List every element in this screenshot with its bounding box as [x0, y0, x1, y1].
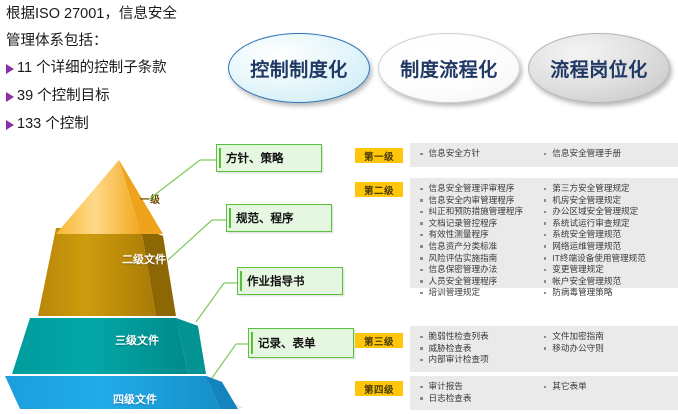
level-4-column-a: 审计报告 日志检查表	[420, 381, 544, 405]
square-bullet-icon	[420, 234, 423, 237]
square-bullet-icon	[544, 222, 547, 225]
square-bullet-icon	[544, 234, 547, 237]
level-1-column-b: 信息安全管理手册	[544, 148, 672, 162]
list-item-label: 信息资产分类标准	[429, 241, 498, 253]
list-item: 培训管理规定	[420, 287, 544, 299]
square-bullet-icon	[544, 211, 547, 214]
list-item-label: 信息安全管理评审程序	[429, 183, 515, 195]
square-bullet-icon	[420, 153, 423, 156]
list-item-label: 脆弱性检查列表	[429, 331, 489, 343]
list-item-label: 纠正和预防措施管理程序	[429, 206, 524, 218]
square-bullet-icon	[544, 188, 547, 191]
list-item-label: 信息安全方针	[429, 148, 481, 160]
level-2-column-b: 第三方安全管理规定 机房安全管理规定 办公区域安全管理规定 系统试运行审查规定 …	[544, 183, 672, 283]
level-1-column-a: 信息安全方针	[420, 148, 544, 162]
square-bullet-icon	[420, 386, 423, 389]
square-bullet-icon	[420, 188, 423, 191]
square-bullet-icon	[420, 269, 423, 272]
list-item: 变更管理规定	[544, 264, 672, 276]
level-2-column-a: 信息安全管理评审程序 信息安全内审管理程序 纠正和预防措施管理程序 文档记录管控…	[420, 183, 544, 283]
list-item-label: 有效性测量程序	[429, 229, 489, 241]
square-bullet-icon	[544, 386, 547, 389]
list-item-label: 人员安全管理程序	[429, 276, 498, 288]
list-item: 信息安全内审管理程序	[420, 195, 544, 207]
level-badge-1: 第一级	[355, 148, 403, 163]
square-bullet-icon	[544, 292, 547, 295]
level-panel-2: 信息安全管理评审程序 信息安全内审管理程序 纠正和预防措施管理程序 文档记录管控…	[410, 178, 678, 288]
list-item: 日志检查表	[420, 393, 544, 405]
level-panel-4: 审计报告 日志检查表 其它表单	[410, 376, 678, 410]
square-bullet-icon	[420, 292, 423, 295]
level-badge-3: 第三级	[355, 333, 403, 348]
square-bullet-icon	[420, 336, 423, 339]
list-item: 其它表单	[544, 381, 672, 393]
square-bullet-icon	[420, 347, 423, 350]
list-item-label: 变更管理规定	[552, 264, 604, 276]
list-item: 办公区域安全管理规定	[544, 206, 672, 218]
list-item-label: 移动办公守则	[552, 343, 604, 355]
square-bullet-icon	[544, 269, 547, 272]
list-item-label: 帐户安全管理规范	[552, 276, 621, 288]
list-item-label: 系统安全管理规范	[552, 229, 621, 241]
list-item-label: 第三方安全管理规定	[552, 183, 629, 195]
list-item-label: 其它表单	[552, 381, 586, 393]
list-item-label: 文件加密指南	[552, 331, 604, 343]
list-item: 风险评估实施指南	[420, 253, 544, 265]
list-item-label: 网络运维管理规范	[552, 241, 621, 253]
callout-standard-procedure: 规范、程序	[226, 204, 332, 232]
square-bullet-icon	[420, 245, 423, 248]
list-item: 内部审计检查项	[420, 354, 544, 366]
list-item-label: 风险评估实施指南	[429, 253, 498, 265]
square-bullet-icon	[544, 153, 547, 156]
list-item-label: 系统试运行审查规定	[552, 218, 629, 230]
list-item: 机房安全管理规定	[544, 195, 672, 207]
square-bullet-icon	[544, 336, 547, 339]
list-item: 防病毒管理策略	[544, 287, 672, 299]
list-item: 网络运维管理规范	[544, 241, 672, 253]
square-bullet-icon	[544, 199, 547, 202]
list-item-label: 文档记录管控程序	[429, 218, 498, 230]
level-badge-2: 第二级	[355, 182, 403, 197]
list-item-label: 内部审计检查项	[429, 354, 489, 366]
list-item: 审计报告	[420, 381, 544, 393]
square-bullet-icon	[420, 222, 423, 225]
list-item: 脆弱性检查列表	[420, 331, 544, 343]
list-item-label: 威胁检查表	[429, 343, 472, 355]
list-item-label: IT终端设备使用管理规范	[552, 253, 646, 265]
level-4-column-b: 其它表单	[544, 381, 672, 405]
list-item: 信息保密管理办法	[420, 264, 544, 276]
list-item: 信息安全方针	[420, 148, 544, 160]
list-item-label: 机房安全管理规定	[552, 195, 621, 207]
list-item: 人员安全管理程序	[420, 276, 544, 288]
square-bullet-icon	[420, 359, 423, 362]
list-item-label: 信息安全内审管理程序	[429, 195, 515, 207]
list-item-label: 信息安全管理手册	[552, 148, 621, 160]
callout-policy-strategy: 方针、策略	[216, 144, 322, 172]
level-3-column-a: 脆弱性检查列表 威胁检查表 内部审计检查项	[420, 331, 544, 367]
square-bullet-icon	[420, 397, 423, 400]
level-panel-3: 脆弱性检查列表 威胁检查表 内部审计检查项 文件加密指南 移动办公守则	[410, 326, 678, 372]
list-item-label: 信息保密管理办法	[429, 264, 498, 276]
square-bullet-icon	[420, 211, 423, 214]
list-item: 有效性测量程序	[420, 229, 544, 241]
list-item: 信息安全管理手册	[544, 148, 672, 160]
list-item: 系统安全管理规范	[544, 229, 672, 241]
list-item-label: 培训管理规定	[429, 287, 481, 299]
square-bullet-icon	[420, 257, 423, 260]
list-item: 威胁检查表	[420, 343, 544, 355]
list-item-label: 日志检查表	[429, 393, 472, 405]
list-item: 系统试运行审查规定	[544, 218, 672, 230]
list-item: 文档记录管控程序	[420, 218, 544, 230]
list-item-label: 办公区域安全管理规定	[552, 206, 638, 218]
level-panel-1: 信息安全方针 信息安全管理手册	[410, 143, 678, 167]
level-badge-4: 第四级	[355, 381, 403, 396]
list-item: 帐户安全管理规范	[544, 276, 672, 288]
list-item: 信息安全管理评审程序	[420, 183, 544, 195]
square-bullet-icon	[420, 199, 423, 202]
list-item-label: 防病毒管理策略	[552, 287, 612, 299]
level-3-column-b: 文件加密指南 移动办公守则	[544, 331, 672, 367]
list-item: 文件加密指南	[544, 331, 672, 343]
square-bullet-icon	[544, 257, 547, 260]
square-bullet-icon	[544, 347, 547, 350]
square-bullet-icon	[420, 280, 423, 283]
callout-work-instruction: 作业指导书	[237, 267, 343, 295]
list-item: 移动办公守则	[544, 343, 672, 355]
list-item: 信息资产分类标准	[420, 241, 544, 253]
square-bullet-icon	[544, 245, 547, 248]
list-item: IT终端设备使用管理规范	[544, 253, 672, 265]
callout-record-form: 记录、表单	[248, 328, 354, 358]
list-item-label: 审计报告	[429, 381, 463, 393]
list-item: 第三方安全管理规定	[544, 183, 672, 195]
list-item: 纠正和预防措施管理程序	[420, 206, 544, 218]
square-bullet-icon	[544, 280, 547, 283]
